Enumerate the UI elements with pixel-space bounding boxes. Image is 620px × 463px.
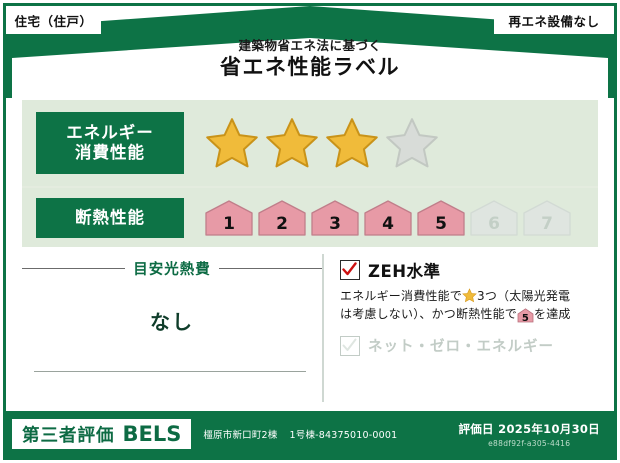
star-empty-icon [384,116,440,170]
energy-performance-label: エネルギー 消費性能 [36,112,184,174]
insulation-grade-filled: 3 [310,199,360,237]
insulation-performance-label: 断熱性能 [36,198,184,238]
check-icon-disabled [342,338,357,353]
zeh-column: ZEH水準 エネルギー消費性能で3つ（太陽光発電は考慮しない）、かつ断熱性能で5… [322,254,598,402]
energy-label-card: 建築物省エネ法に基づく 省エネ性能ラベル 住宅（住戸） 再エネ設備なし エネルギ… [0,0,620,463]
zeh-desc-part2: 3つ（太陽光発電 [477,289,570,303]
energy-label-line1: エネルギー [66,123,154,143]
bels-jp-label: 第三者評価 [22,422,115,447]
insulation-grade-filled: 2 [257,199,307,237]
lower-columns: 目安光熱費 なし ZEH水準 エネルギー消費性能で3つ（太陽光発電は考慮 [22,254,598,402]
energy-label-line2: 消費性能 [75,143,145,163]
tab-renewable-status: 再エネ設備なし [494,6,614,34]
zeh-checkbox [340,260,360,280]
insulation-label-line1: 断熱性能 [75,208,145,228]
insulation-grade-filled: 4 [363,199,413,237]
utility-cost-value: なし [22,306,322,335]
label-footer: 第三者評価 BELS 橿原市新口町2棟 1号棟-84375010-0001 評価… [6,411,614,457]
insulation-grade-value: 4 [382,214,394,237]
insulation-grade-value: 2 [276,214,288,237]
utility-cost-column: 目安光熱費 なし [22,254,322,402]
evaluation-date-label: 評価日 [458,422,493,436]
star-filled-icon [324,116,380,170]
net-zero-checkbox [340,336,360,356]
bels-en-label: BELS [123,422,182,446]
net-zero-row: ネット・ゼロ・エネルギー [340,335,598,356]
evaluation-date-line: 評価日 2025年10月30日 [458,421,600,437]
net-zero-label: ネット・ゼロ・エネルギー [368,335,554,356]
insulation-grade-filled: 1 [204,199,254,237]
inline-star-icon [462,288,477,303]
bels-badge: 第三者評価 BELS [12,419,191,449]
property-building-no: 1号棟-84375010-0001 [290,427,398,441]
property-address: 橿原市新口町2棟 [203,427,277,441]
insulation-grade-empty: 7 [522,199,572,237]
rule-left [22,268,125,269]
insulation-grade-filled: 5 [416,199,466,237]
label-body: エネルギー 消費性能 断熱性能 1234567 [12,96,608,406]
energy-stars-area [184,116,598,170]
row-insulation-performance: 断熱性能 1234567 [22,188,598,247]
star-filled-icon [204,116,260,170]
star-rating [204,116,440,170]
utility-cost-heading: 目安光熱費 [22,258,322,279]
row-energy-performance: エネルギー 消費性能 [22,100,598,186]
property-address-block: 橿原市新口町2棟 1号棟-84375010-0001 [203,427,397,441]
insulation-grade-value: 3 [329,214,341,237]
evaluation-id: e88df92f-a305-4416 [458,439,600,448]
evaluation-date-value: 2025年10月30日 [498,422,600,436]
zeh-description: エネルギー消費性能で3つ（太陽光発電は考慮しない）、かつ断熱性能で5を達成 [340,287,598,323]
zeh-desc-part1: エネルギー消費性能で [340,289,462,303]
check-icon [342,262,357,277]
insulation-grade-value: 6 [488,214,500,237]
inline-grade-badge: 5 [517,308,534,323]
star-filled-icon [264,116,320,170]
insulation-grade-value: 7 [541,214,553,237]
tab-dwelling-type: 住宅（住戸） [6,6,101,34]
evaluation-info: 評価日 2025年10月30日 e88df92f-a305-4416 [458,421,600,448]
insulation-grade-value: 1 [223,214,235,237]
inline-grade-value: 5 [522,313,529,324]
rule-right [219,268,322,269]
utility-cost-bottom-rule [34,371,306,372]
zeh-standard-row: ZEH水準 [340,258,598,282]
performance-panel: エネルギー 消費性能 断熱性能 1234567 [22,100,598,247]
zeh-desc-part3: は考慮しない）、かつ断熱性能で [340,307,517,321]
insulation-grades-area: 1234567 [184,199,598,237]
insulation-grade-value: 5 [435,214,447,237]
zeh-standard-label: ZEH水準 [368,258,441,282]
insulation-grade-scale: 1234567 [204,199,572,237]
insulation-grade-empty: 6 [469,199,519,237]
zeh-desc-part4: を達成 [534,307,571,321]
utility-cost-title: 目安光熱費 [133,258,211,279]
